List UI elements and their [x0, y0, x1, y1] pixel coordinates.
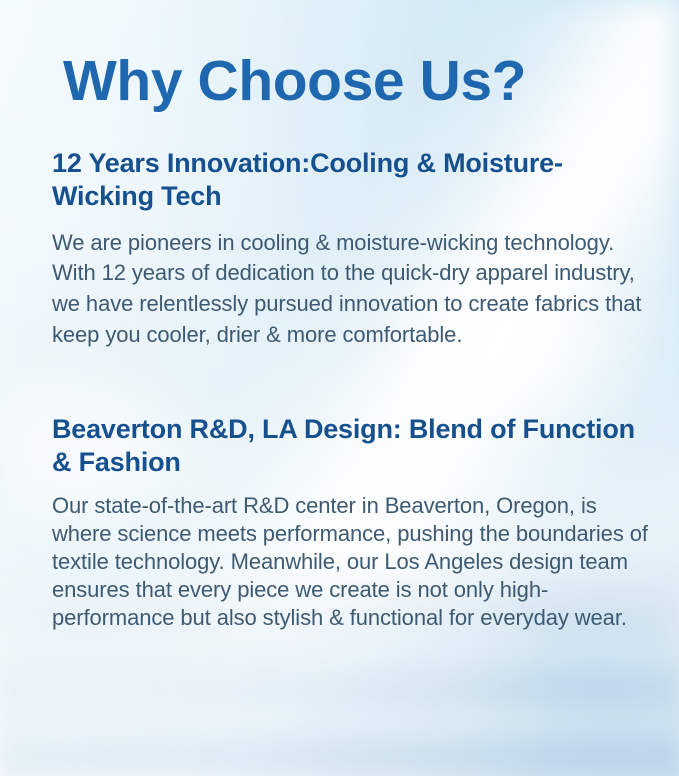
- section-heading-design: Beaverton R&D, LA Design: Blend of Funct…: [52, 413, 649, 480]
- content-container: Why Choose Us? 12 Years Innovation:Cooli…: [0, 0, 679, 631]
- section-design: Beaverton R&D, LA Design: Blend of Funct…: [0, 413, 679, 632]
- section-body-innovation: We are pioneers in cooling & moisture-wi…: [52, 228, 649, 351]
- section-heading-innovation: 12 Years Innovation:Cooling & Moisture-W…: [52, 147, 649, 214]
- why-choose-us-panel: Why Choose Us? 12 Years Innovation:Cooli…: [0, 0, 679, 776]
- section-body-design: Our state-of-the-art R&D center in Beave…: [52, 492, 649, 632]
- section-innovation: 12 Years Innovation:Cooling & Moisture-W…: [0, 147, 679, 351]
- page-title: Why Choose Us?: [0, 0, 679, 111]
